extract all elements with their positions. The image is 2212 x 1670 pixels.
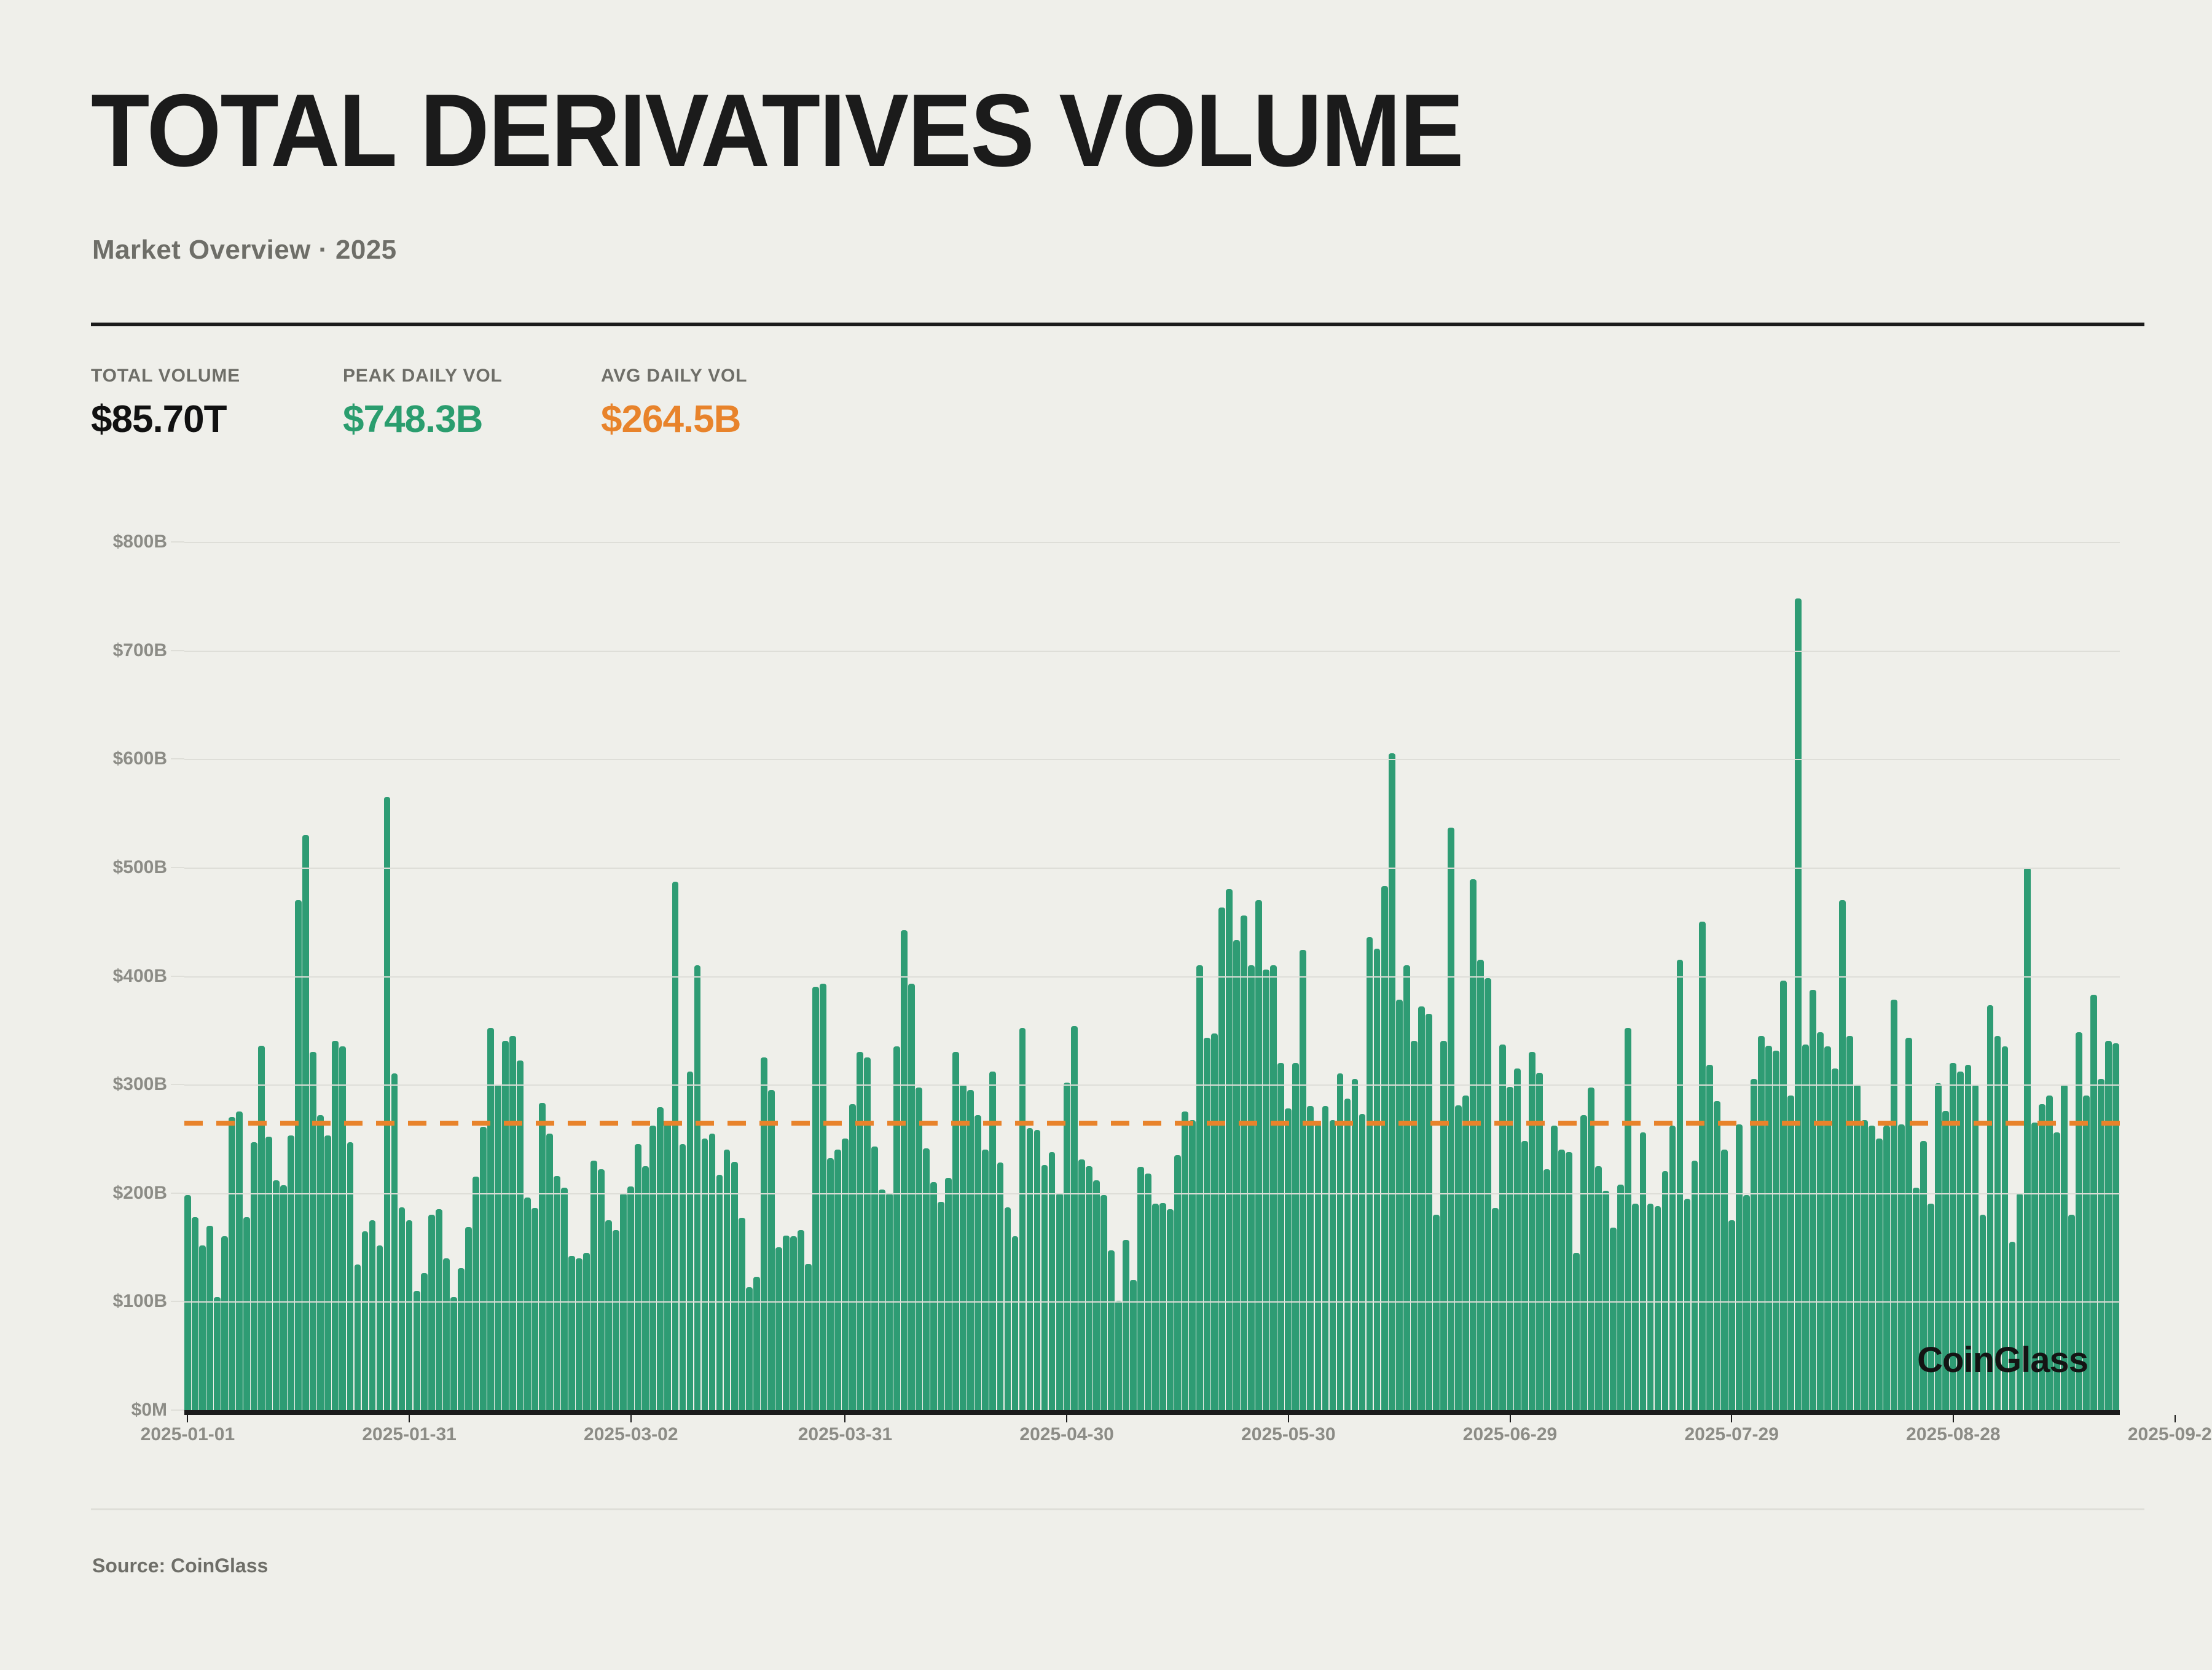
- bar: [1692, 1161, 1698, 1410]
- x-axis-tick-mark: [187, 1415, 188, 1422]
- y-axis-tick-label: $500B: [113, 857, 167, 878]
- y-axis-tick-mark: [171, 650, 184, 651]
- stat-value: $748.3B: [343, 398, 601, 441]
- footer-divider: [91, 1508, 2144, 1510]
- bar: [1027, 1128, 1033, 1410]
- bar: [406, 1220, 413, 1410]
- bar: [1677, 960, 1684, 1410]
- bar: [1159, 1203, 1166, 1410]
- bar: [1640, 1132, 1647, 1410]
- bar: [1448, 828, 1454, 1410]
- stat-avg-daily-vol: AVG DAILY VOL $264.5B: [601, 366, 859, 441]
- bar: [657, 1107, 664, 1410]
- x-axis-tick-mark: [630, 1415, 632, 1422]
- bar: [1167, 1209, 1174, 1410]
- bar: [1041, 1165, 1048, 1410]
- bar: [1411, 1041, 1418, 1410]
- gridline: [184, 868, 2120, 869]
- bar: [1093, 1180, 1100, 1410]
- bar: [805, 1264, 812, 1410]
- bar: [1980, 1215, 1986, 1410]
- bar: [694, 965, 701, 1410]
- bar: [1595, 1166, 1602, 1410]
- y-axis-tick-label: $800B: [113, 531, 167, 552]
- source-label: Source: CoinGlass: [92, 1554, 268, 1577]
- x-axis-tick-mark: [2175, 1415, 2176, 1422]
- bar: [1152, 1204, 1159, 1410]
- bar: [310, 1052, 316, 1410]
- x-axis-tick-mark: [1731, 1415, 1732, 1422]
- bar: [1832, 1068, 1838, 1410]
- bar: [1795, 598, 1802, 1410]
- bar: [377, 1245, 383, 1410]
- bar: [642, 1166, 649, 1410]
- bar: [1218, 908, 1225, 1410]
- bar: [414, 1291, 420, 1410]
- bar: [590, 1161, 597, 1410]
- bar: [1078, 1159, 1085, 1410]
- bar: [1817, 1032, 1824, 1410]
- bar: [332, 1041, 339, 1410]
- x-axis-tick-label: 2025-08-28: [1906, 1424, 2000, 1445]
- bar: [746, 1287, 753, 1410]
- bar: [1758, 1036, 1765, 1410]
- y-axis-tick-label: $100B: [113, 1291, 167, 1312]
- stat-value: $85.70T: [91, 398, 343, 441]
- bar: [672, 882, 679, 1410]
- bar: [635, 1144, 641, 1410]
- bar: [1728, 1220, 1735, 1410]
- bar: [1204, 1038, 1210, 1410]
- bar: [1617, 1185, 1624, 1410]
- bar: [473, 1177, 479, 1410]
- bar: [1086, 1166, 1092, 1410]
- y-axis-tick-mark: [171, 976, 184, 977]
- bar: [1012, 1236, 1019, 1410]
- stat-total-volume: TOTAL VOLUME $85.70T: [91, 366, 343, 441]
- bar: [1751, 1079, 1757, 1410]
- bar: [1477, 960, 1484, 1410]
- bar: [1389, 753, 1395, 1410]
- x-axis: 2025-01-012025-01-312025-03-022025-03-31…: [0, 1424, 2212, 1455]
- bar: [1588, 1088, 1594, 1410]
- bar: [450, 1297, 457, 1410]
- bar: [502, 1041, 509, 1410]
- bar: [1580, 1115, 1587, 1410]
- bar: [1108, 1250, 1115, 1410]
- x-axis-tick-label: 2025-01-01: [141, 1424, 235, 1445]
- bar: [443, 1258, 450, 1410]
- x-axis-tick-label: 2025-06-29: [1463, 1424, 1557, 1445]
- bar: [1566, 1152, 1572, 1410]
- x-axis-tick-label: 2025-03-31: [798, 1424, 892, 1445]
- header-divider: [91, 323, 2144, 326]
- bar: [1211, 1033, 1218, 1410]
- x-axis-tick-mark: [1288, 1415, 1289, 1422]
- bar: [192, 1217, 198, 1410]
- bar: [2090, 995, 2097, 1410]
- bar: [1322, 1106, 1329, 1410]
- x-axis-tick-label: 2025-01-31: [362, 1424, 456, 1445]
- y-axis-tick-mark: [171, 758, 184, 759]
- bar: [428, 1215, 435, 1410]
- bar: [1374, 949, 1381, 1410]
- bar: [930, 1182, 937, 1410]
- gridline: [184, 759, 2120, 760]
- bar: [399, 1207, 406, 1410]
- bar: [1064, 1083, 1070, 1410]
- x-axis-tick-mark: [1066, 1415, 1067, 1422]
- bar: [768, 1090, 775, 1410]
- bar: [598, 1169, 605, 1410]
- bar: [1455, 1105, 1462, 1410]
- bar: [761, 1057, 767, 1410]
- bar: [317, 1115, 324, 1410]
- bar: [206, 1226, 213, 1410]
- stat-label: TOTAL VOLUME: [91, 366, 343, 386]
- bar: [908, 984, 915, 1410]
- bar: [1137, 1167, 1144, 1410]
- bar: [1521, 1141, 1528, 1410]
- bar: [1381, 886, 1388, 1410]
- bar: [1123, 1240, 1129, 1410]
- bar: [1462, 1096, 1469, 1410]
- stat-peak-daily-vol: PEAK DAILY VOL $748.3B: [343, 366, 601, 441]
- gridline: [184, 1301, 2120, 1303]
- bar: [1426, 1014, 1432, 1410]
- bar: [509, 1036, 516, 1410]
- bar: [753, 1277, 760, 1410]
- bar: [1307, 1106, 1314, 1410]
- gridline: [184, 1193, 2120, 1194]
- bar: [842, 1139, 849, 1410]
- bar: [568, 1256, 575, 1410]
- bar: [1285, 1108, 1292, 1410]
- bar: [1352, 1079, 1359, 1410]
- bar: [1846, 1036, 1853, 1410]
- bar: [1891, 1000, 1897, 1410]
- average-line: [184, 1121, 2120, 1126]
- bar: [539, 1103, 546, 1410]
- bar: [1883, 1126, 1890, 1410]
- stat-label: PEAK DAILY VOL: [343, 366, 601, 386]
- bar: [1359, 1114, 1366, 1410]
- bar: [1492, 1208, 1499, 1410]
- bar: [975, 1115, 981, 1410]
- bar: [1300, 950, 1306, 1410]
- bar: [214, 1297, 221, 1410]
- bar: [1396, 1000, 1403, 1410]
- bar: [1824, 1046, 1831, 1410]
- bar: [1558, 1150, 1565, 1410]
- x-axis-line: [184, 1410, 2120, 1415]
- bar: [1655, 1206, 1661, 1410]
- bar: [1115, 1301, 1122, 1410]
- bar: [243, 1217, 250, 1410]
- chart-plot-area: CoinGlass: [184, 542, 2120, 1410]
- bar: [1507, 1087, 1513, 1410]
- bar: [2024, 868, 2031, 1410]
- bar: [716, 1175, 723, 1410]
- bar: [627, 1186, 634, 1410]
- x-axis-tick-mark: [409, 1415, 410, 1422]
- bar: [465, 1227, 472, 1410]
- bar: [1543, 1169, 1550, 1410]
- bar: [384, 797, 391, 1410]
- bar: [605, 1220, 612, 1410]
- bar: [369, 1220, 376, 1410]
- bar: [1551, 1126, 1558, 1410]
- y-axis-tick-mark: [171, 1084, 184, 1085]
- bar: [1263, 970, 1269, 1410]
- bar: [1861, 1120, 1868, 1410]
- bar: [2068, 1215, 2075, 1410]
- bar: [938, 1202, 944, 1410]
- bar: [1802, 1045, 1809, 1410]
- bar: [324, 1135, 331, 1410]
- y-axis: $0M$100B$200B$300B$400B$500B$600B$700B$8…: [0, 542, 184, 1410]
- bar: [1241, 915, 1247, 1410]
- bar: [480, 1127, 487, 1410]
- bar: [458, 1268, 465, 1410]
- bar: [857, 1052, 863, 1410]
- bar: [1470, 879, 1477, 1410]
- bar: [280, 1185, 287, 1410]
- bar: [1403, 965, 1410, 1410]
- bar: [2105, 1041, 2112, 1410]
- bar: [347, 1142, 354, 1410]
- bar: [1071, 1026, 1078, 1410]
- bar: [1898, 1124, 1905, 1410]
- gridline: [184, 1084, 2120, 1086]
- bar: [1573, 1253, 1580, 1410]
- bar: [495, 1084, 501, 1410]
- bar: [1647, 1204, 1654, 1410]
- x-axis-tick-label: 2025-09-27: [2128, 1424, 2212, 1445]
- bar: [251, 1142, 257, 1410]
- bar: [1034, 1130, 1041, 1410]
- x-axis-tick-label: 2025-07-29: [1684, 1424, 1778, 1445]
- bar: [775, 1247, 782, 1410]
- bar: [1130, 1280, 1137, 1410]
- bar: [421, 1273, 428, 1410]
- bar: [288, 1135, 294, 1410]
- bar: [879, 1190, 885, 1410]
- bar: [2098, 1079, 2104, 1410]
- bar: [531, 1208, 538, 1410]
- bar: [783, 1236, 790, 1410]
- bar: [1182, 1111, 1188, 1410]
- bar: [952, 1052, 959, 1410]
- x-axis-tick-mark: [844, 1415, 845, 1422]
- bar: [355, 1264, 361, 1410]
- bar: [871, 1147, 878, 1410]
- page-subtitle: Market Overview · 2025: [92, 235, 397, 265]
- bar: [236, 1111, 243, 1410]
- bar: [1714, 1101, 1720, 1410]
- y-axis-tick-label: $700B: [113, 640, 167, 661]
- stats-row: TOTAL VOLUME $85.70T PEAK DAILY VOL $748…: [91, 366, 859, 441]
- bar: [1684, 1199, 1691, 1410]
- y-axis-tick-mark: [171, 867, 184, 868]
- bar: [820, 984, 826, 1410]
- coinglass-watermark: CoinGlass: [1917, 1339, 2088, 1381]
- bar: [613, 1230, 619, 1410]
- bar: [1248, 965, 1255, 1410]
- stat-label: AVG DAILY VOL: [601, 366, 859, 386]
- bar: [1196, 965, 1203, 1410]
- bar: [1669, 1126, 1676, 1410]
- bar: [923, 1148, 930, 1410]
- bar: [945, 1178, 952, 1410]
- bar: [265, 1137, 272, 1410]
- bar: [724, 1150, 731, 1410]
- bar: [1499, 1045, 1506, 1410]
- bar: [702, 1139, 708, 1410]
- bar: [1736, 1124, 1743, 1410]
- y-axis-tick-label: $300B: [113, 1074, 167, 1095]
- bar: [812, 987, 819, 1410]
- bar: [1529, 1052, 1535, 1410]
- bar: [1854, 1084, 1861, 1410]
- bar: [1315, 1124, 1322, 1410]
- bar: [1145, 1174, 1151, 1410]
- y-axis-tick-mark: [171, 1193, 184, 1194]
- bar: [901, 930, 908, 1410]
- y-axis-tick-label: $0M: [131, 1400, 167, 1421]
- bar: [1905, 1038, 1912, 1410]
- y-axis-tick-mark: [171, 1409, 184, 1411]
- bar: [1189, 1120, 1196, 1410]
- bar: [709, 1134, 716, 1410]
- gridline: [184, 542, 2120, 543]
- bar: [1049, 1152, 1056, 1410]
- bar: [664, 1123, 671, 1410]
- bar: [1632, 1204, 1639, 1410]
- bar: [739, 1218, 745, 1410]
- y-axis-tick-label: $400B: [113, 966, 167, 987]
- bar: [2112, 1043, 2119, 1410]
- bar: [1418, 1006, 1425, 1410]
- bar: [546, 1134, 553, 1410]
- bar: [1765, 1046, 1772, 1410]
- bar: [1773, 1051, 1779, 1410]
- bar: [864, 1057, 871, 1410]
- infographic-root: TOTAL DERIVATIVES VOLUME Market Overview…: [0, 0, 2212, 1670]
- bar: [960, 1084, 967, 1410]
- bar: [967, 1090, 974, 1410]
- bar: [1270, 965, 1277, 1410]
- y-axis-tick-mark: [171, 1301, 184, 1302]
- bar: [1662, 1171, 1669, 1410]
- x-axis-tick-mark: [1953, 1415, 1954, 1422]
- x-axis-tick-label: 2025-04-30: [1019, 1424, 1113, 1445]
- bar: [731, 1162, 738, 1410]
- bar: [1721, 1150, 1728, 1410]
- bar: [1514, 1068, 1521, 1410]
- x-axis-tick-label: 2025-03-02: [584, 1424, 678, 1445]
- bar: [1869, 1126, 1875, 1410]
- bar: [1602, 1191, 1609, 1410]
- page-title: TOTAL DERIVATIVES VOLUME: [91, 79, 1463, 182]
- bar: [2009, 1242, 2016, 1410]
- bar: [1780, 981, 1787, 1410]
- bar: [1277, 1063, 1284, 1410]
- bar: [1433, 1215, 1440, 1410]
- x-axis-tick-label: 2025-05-30: [1241, 1424, 1335, 1445]
- bar: [834, 1150, 841, 1410]
- bar: [1699, 922, 1706, 1410]
- y-axis-tick-label: $600B: [113, 748, 167, 769]
- bar: [554, 1176, 560, 1411]
- bar: [339, 1046, 346, 1410]
- bar: [362, 1231, 369, 1410]
- bar: [849, 1104, 856, 1410]
- bar: [982, 1150, 989, 1410]
- bar: [649, 1126, 656, 1410]
- bar: [893, 1046, 900, 1410]
- bar: [517, 1060, 524, 1410]
- bar: [827, 1158, 834, 1410]
- bar: [798, 1230, 804, 1410]
- bar: [680, 1144, 686, 1410]
- y-axis-tick-mark: [171, 541, 184, 543]
- bar: [561, 1188, 568, 1410]
- bar: [1810, 990, 1816, 1410]
- gridline: [184, 976, 2120, 978]
- bar: [229, 1117, 235, 1410]
- bar: [1233, 940, 1240, 1410]
- bar: [1005, 1207, 1011, 1410]
- x-axis-tick-mark: [1510, 1415, 1511, 1422]
- y-axis-tick-label: $200B: [113, 1183, 167, 1204]
- bar: [997, 1162, 1004, 1410]
- bar: [258, 1046, 265, 1410]
- bar: [583, 1253, 590, 1410]
- bar: [1706, 1065, 1713, 1410]
- gridline: [184, 651, 2120, 652]
- bar: [1330, 1120, 1336, 1410]
- bar: [524, 1198, 531, 1410]
- bar: [1344, 1099, 1351, 1410]
- bar: [436, 1209, 442, 1410]
- bar: [790, 1236, 797, 1410]
- bar: [273, 1180, 280, 1410]
- bar: [1876, 1139, 1883, 1410]
- bar: [221, 1236, 228, 1410]
- bar: [916, 1088, 922, 1410]
- bar: [576, 1258, 582, 1410]
- bar: [1610, 1228, 1617, 1410]
- bar: [1226, 889, 1233, 1410]
- bar: [1292, 1063, 1299, 1410]
- bar: [199, 1245, 206, 1410]
- stat-value: $264.5B: [601, 398, 859, 441]
- bar: [1367, 937, 1373, 1410]
- bar: [1440, 1041, 1447, 1410]
- bar: [1787, 1096, 1794, 1410]
